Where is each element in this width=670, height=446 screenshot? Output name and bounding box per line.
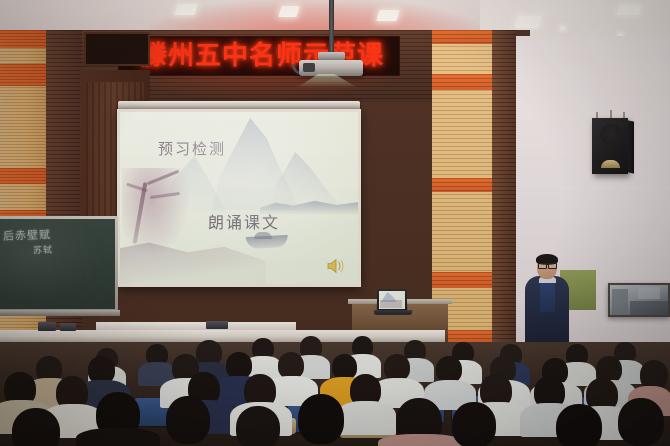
speaker-driver-cone (600, 124, 621, 145)
blackboard-text-author: 苏轼 (33, 243, 53, 257)
monitor-image-shape (630, 301, 668, 315)
right-dark-wood-column (492, 30, 516, 352)
left-wall-orange-band (0, 168, 46, 184)
speaker-icon[interactable] (326, 258, 346, 274)
ink-mountain-right (270, 152, 344, 210)
left-wall-orange-band (0, 30, 46, 48)
ceiling-light (174, 4, 197, 15)
ceiling-light (617, 5, 642, 15)
left-wall-orange-band (0, 64, 46, 86)
right-wall-orange-band (432, 74, 494, 90)
ceiling-red-glow (150, 0, 480, 34)
wall-mounted-display[interactable] (610, 285, 668, 315)
ceiling-light (278, 6, 299, 17)
teacher-glasses (538, 263, 556, 267)
slide-heading-1: 预习检测 (158, 138, 226, 159)
door-transom-window (84, 32, 150, 66)
desk-equipment[interactable] (60, 323, 76, 331)
laptop-slide-bank (380, 300, 402, 308)
projected-slide: 预习检测 朗诵课文 (120, 112, 358, 284)
projector-mount-bracket (318, 52, 345, 60)
right-wall-orange-band (432, 272, 494, 288)
blackboard: 后赤壁赋 苏轼 (0, 219, 115, 309)
monitor-image-shape (638, 287, 660, 299)
glasses-lens-right (548, 263, 557, 269)
desk-equipment[interactable] (38, 322, 56, 331)
blackboard-text-title: 后赤壁赋 (3, 226, 52, 244)
ceiling-light (514, 16, 541, 28)
ceiling-downlight (560, 26, 565, 30)
monitor-image-shape (612, 289, 628, 315)
laptop-keyboard-base[interactable] (374, 310, 413, 315)
right-wall-orange-band (432, 30, 494, 44)
glasses-lens-left (538, 263, 547, 269)
blackboard-chalk-tray (0, 310, 120, 316)
laptop-screen (379, 291, 405, 309)
projector-mount-pole (329, 0, 334, 54)
desk-equipment[interactable] (206, 321, 228, 329)
right-wall-orange-band (432, 178, 494, 192)
wall-speaker-side (628, 120, 634, 173)
projector-lens (303, 63, 315, 72)
teacher-sweater (540, 278, 555, 312)
front-desk-ledge (0, 330, 445, 342)
speaker-gold-accent (601, 160, 620, 168)
ceiling-light (376, 10, 399, 21)
classroom-photo-scene: 滕州五中名师示范课 预习检测 朗诵课文 (0, 0, 670, 446)
slide-heading-2: 朗诵课文 (208, 209, 280, 233)
ink-boat-canopy (254, 232, 272, 239)
